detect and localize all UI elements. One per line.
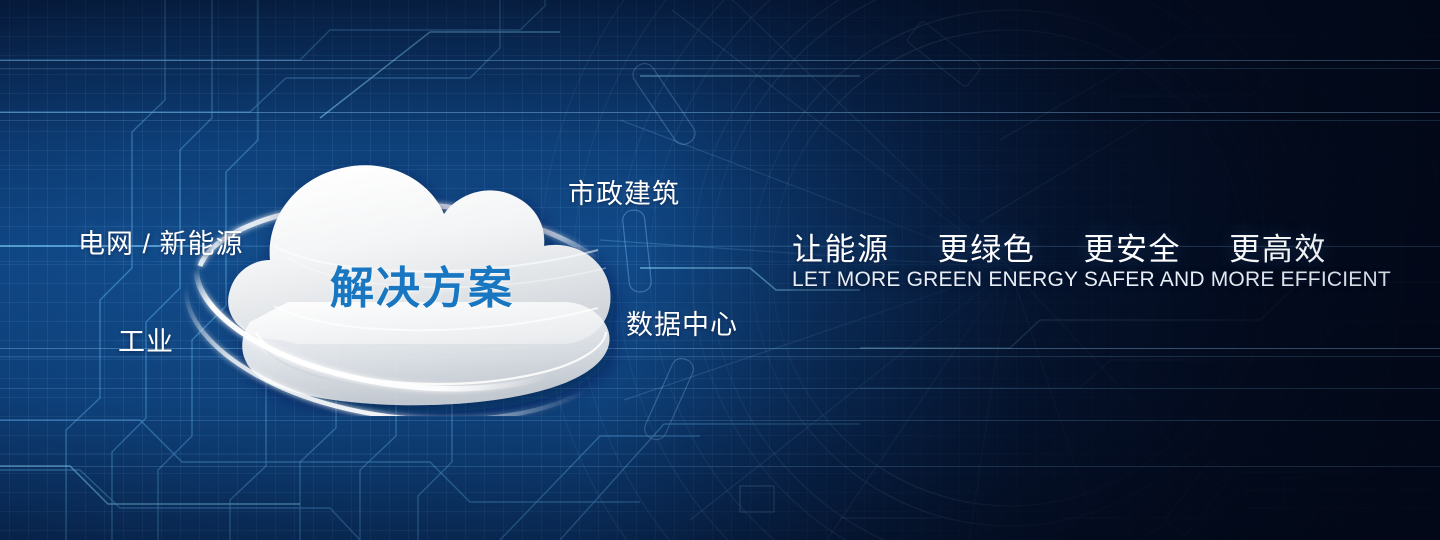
- vignette-overlay: [0, 0, 1440, 540]
- solution-banner: 解决方案 电网 / 新能源 工业 市政建筑 数据中心 让能源 更绿色 更安全 更…: [0, 0, 1440, 540]
